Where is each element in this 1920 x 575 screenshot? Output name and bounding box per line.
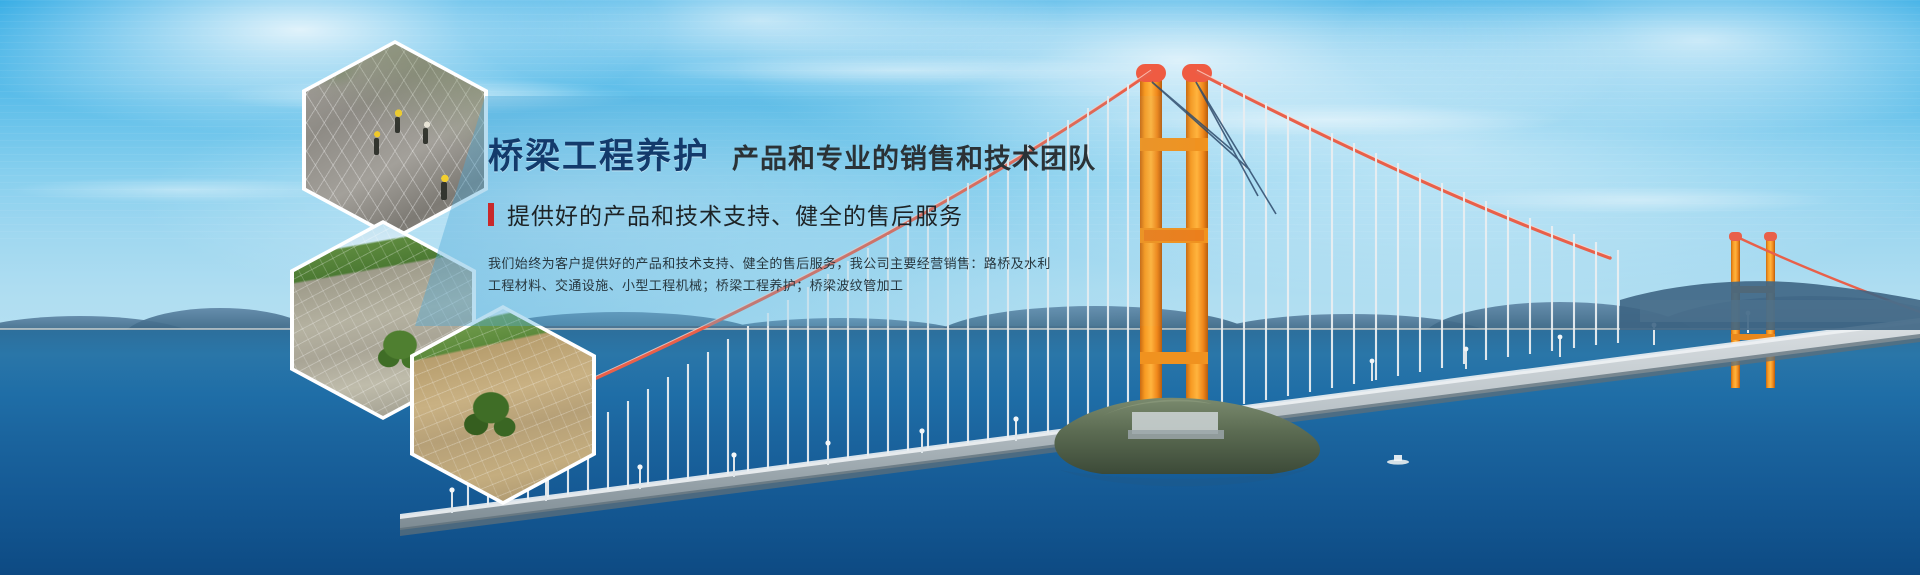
- hero-banner: 桥梁工程养护 产品和专业的销售和技术团队 提供好的产品和技术支持、健全的售后服务…: [0, 0, 1920, 575]
- body-line-1: 我们始终为客户提供好的产品和技术支持、健全的售后服务，我公司主要经营销售：路桥及…: [488, 253, 1228, 275]
- banner-copy: 桥梁工程养护 产品和专业的销售和技术团队 提供好的产品和技术支持、健全的售后服务…: [488, 128, 1228, 297]
- hex-photo-slope-netting-install-crew[interactable]: [302, 40, 488, 240]
- headline-secondary: 产品和专业的销售和技术团队: [732, 137, 1096, 176]
- red-accent-bar-icon: [488, 203, 494, 226]
- sea-water: [0, 330, 1920, 575]
- hex-photo-image-1: [306, 44, 484, 236]
- subheadline-text: 提供好的产品和技术支持、健全的售后服务: [507, 197, 963, 231]
- banner-headline: 桥梁工程养护 产品和专业的销售和技术团队: [488, 128, 1228, 179]
- banner-body-copy: 我们始终为客户提供好的产品和技术支持、健全的售后服务，我公司主要经营销售：路桥及…: [488, 253, 1228, 297]
- banner-subheadline: 提供好的产品和技术支持、健全的售后服务: [488, 197, 1228, 231]
- headline-primary: 桥梁工程养护: [488, 128, 710, 179]
- body-line-2: 工程材料、交通设施、小型工程机械；桥梁工程养护；桥梁波纹管加工: [488, 275, 1228, 297]
